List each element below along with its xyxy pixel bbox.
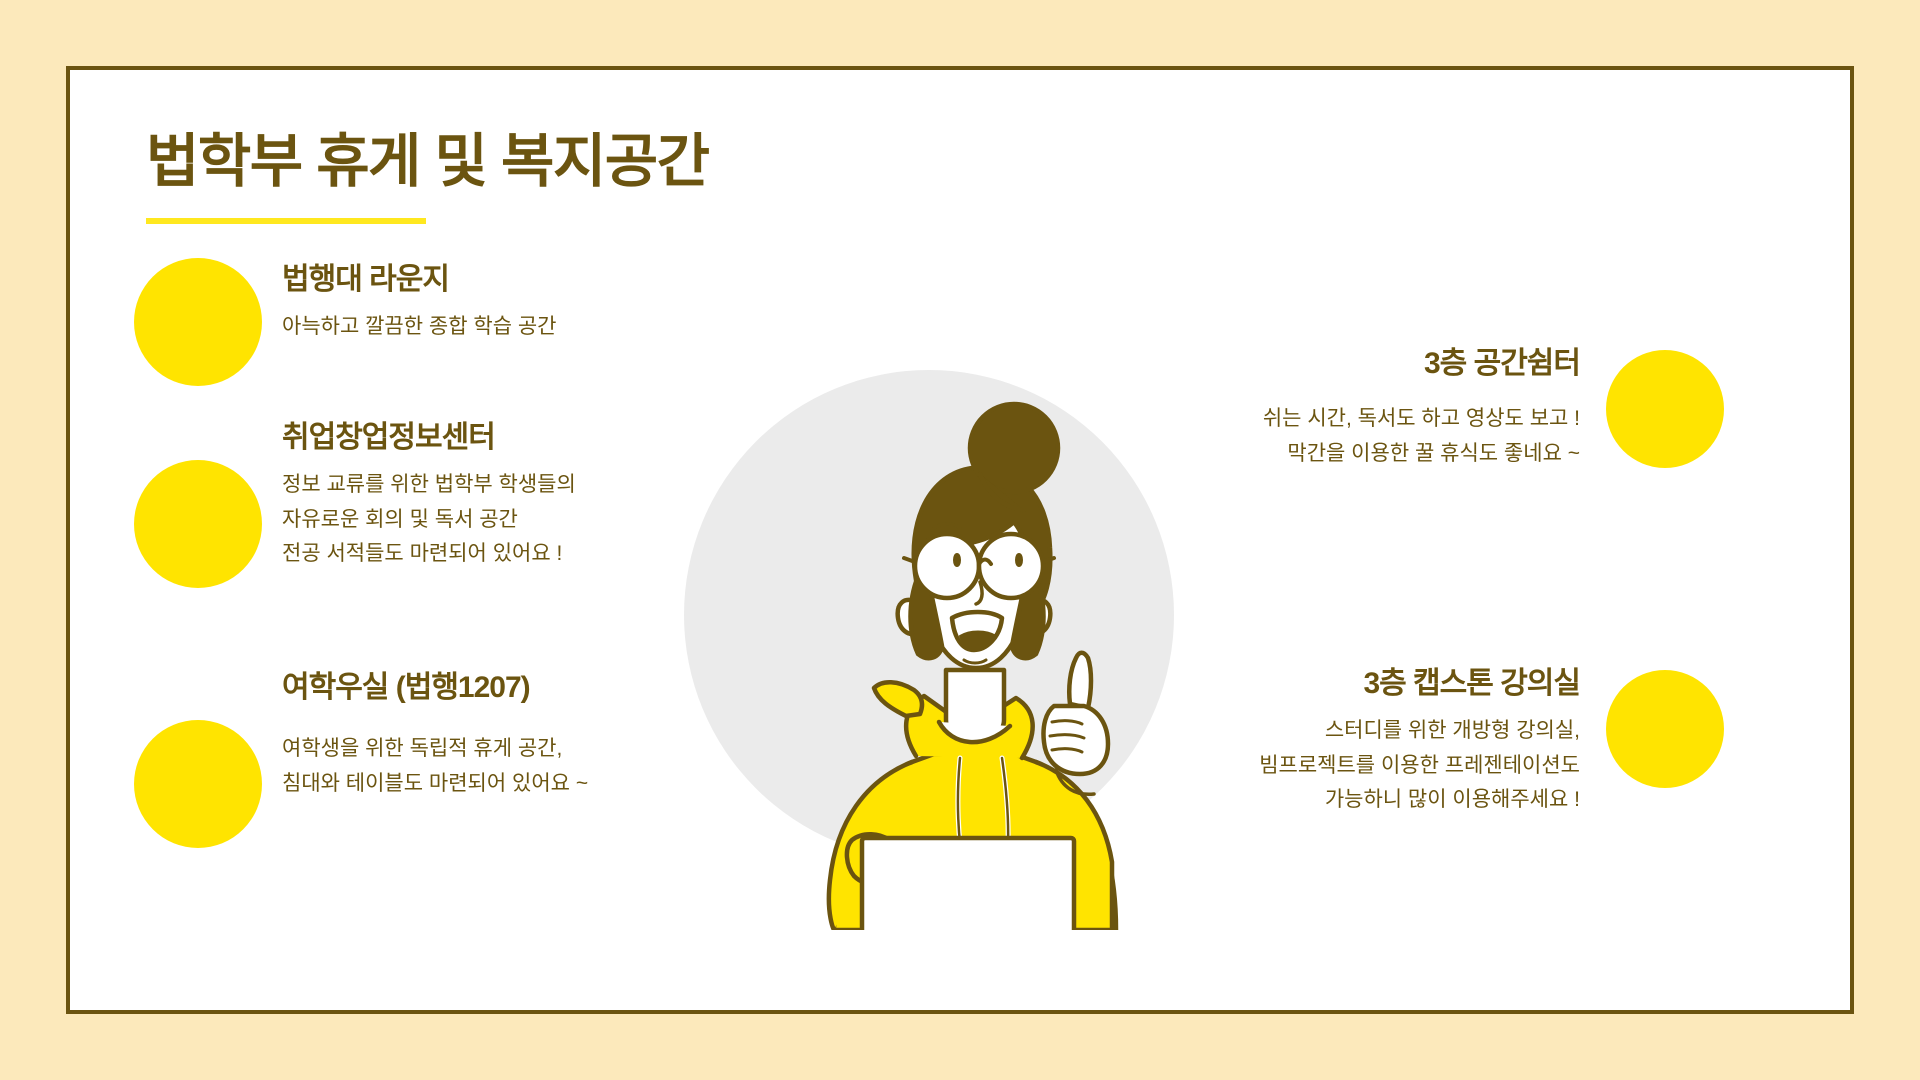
info-item-womens-room-heading: 여학우실 (법행1207) — [282, 670, 752, 706]
info-item-career-center-heading: 취업창업정보센터 — [282, 420, 752, 456]
page-title: 법학부 휴게 및 복지공간 — [146, 130, 708, 194]
bullet-dot-left-3 — [134, 720, 262, 848]
title-block: 법학부 휴게 및 복지공간 — [146, 130, 708, 224]
info-item-womens-room-description: 여학생을 위한 독립적 휴게 공간, 침대와 테이블도 마련되어 있어요 ~ — [282, 732, 752, 801]
info-item-womens-room: 여학우실 (법행1207) 여학생을 위한 독립적 휴게 공간, 침대와 테이블… — [282, 670, 752, 801]
bullet-dot-left-2 — [134, 460, 262, 588]
illustration-woman-with-laptop — [684, 370, 1244, 930]
bullet-dot-left-1 — [134, 258, 262, 386]
info-item-career-center-description: 정보 교류를 위한 법학부 학생들의 자유로운 회의 및 독서 공간 전공 서적… — [282, 468, 752, 572]
info-item-lounge-description: 아늑하고 깔끔한 종합 학습 공간 — [282, 310, 722, 345]
info-item-career-center: 취업창업정보센터 정보 교류를 위한 법학부 학생들의 자유로운 회의 및 독서… — [282, 420, 752, 572]
slide-card: 법학부 휴게 및 복지공간 법행대 라운지 아늑하고 깔끔한 종합 학습 공간 … — [66, 66, 1854, 1014]
illustration-figure-svg — [684, 370, 1244, 930]
info-item-lounge: 법행대 라운지 아늑하고 깔끔한 종합 학습 공간 — [282, 262, 722, 345]
title-underline-rule — [146, 218, 426, 224]
bullet-dot-right-1 — [1606, 350, 1724, 468]
bullet-dot-right-2 — [1606, 670, 1724, 788]
info-item-lounge-heading: 법행대 라운지 — [282, 262, 722, 298]
